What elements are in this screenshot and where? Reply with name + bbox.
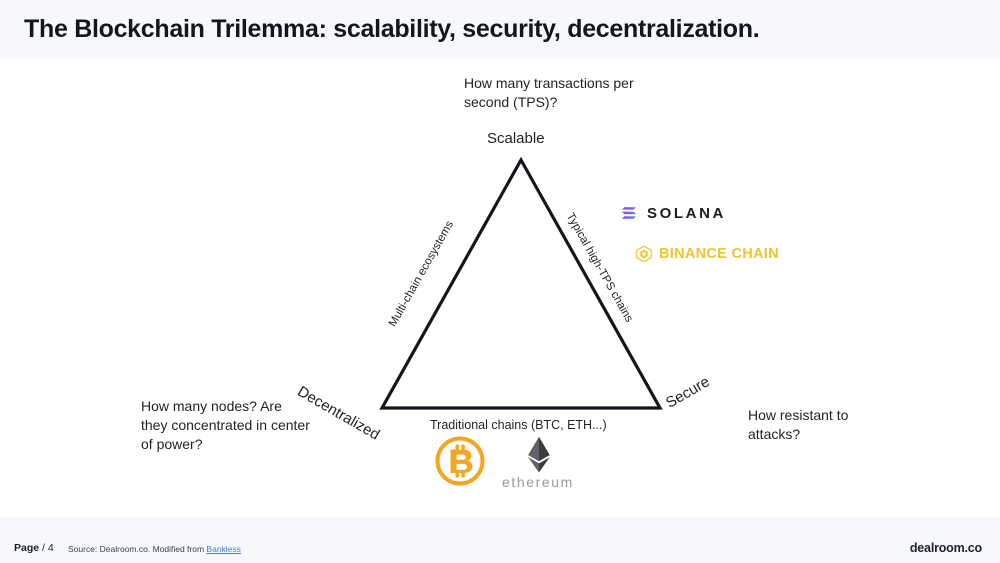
binance-icon [635, 245, 653, 263]
solana-icon [620, 203, 640, 223]
page-number: / 4 [42, 542, 54, 554]
page-label: Page [14, 542, 39, 554]
ethereum-icon [522, 436, 556, 474]
dealroom-brand: dealroom.co [910, 541, 982, 555]
ethereum-wordmark: ethereum [502, 474, 574, 490]
source-text: Source: Dealroom.co. Modified from [68, 544, 206, 554]
vertex-label-scalable: Scalable [487, 130, 545, 147]
logo-solana: SOLANA [620, 203, 726, 223]
edge-label-bottom: Traditional chains (BTC, ETH...) [430, 418, 607, 432]
question-scalability: How many transactions per second (TPS)? [464, 74, 674, 112]
logo-binance-chain: BINANCE CHAIN [635, 245, 779, 263]
bitcoin-icon [434, 435, 486, 487]
bankless-link[interactable]: Bankless [206, 544, 241, 554]
footer-band [0, 517, 1000, 563]
source-note: Source: Dealroom.co. Modified from Bankl… [68, 544, 241, 554]
solana-wordmark: SOLANA [647, 205, 726, 222]
page-title: The Blockchain Trilemma: scalability, se… [24, 15, 759, 44]
question-security: How resistant to attacks? [748, 406, 898, 444]
page-indicator: Page / 4 [14, 542, 54, 554]
binance-wordmark: BINANCE CHAIN [659, 246, 779, 262]
slide: The Blockchain Trilemma: scalability, se… [0, 0, 1000, 563]
question-decentralization: How many nodes? Are they concentrated in… [141, 397, 311, 454]
trilemma-diagram: Scalable Decentralized Secure Multi-chai… [0, 58, 1000, 517]
